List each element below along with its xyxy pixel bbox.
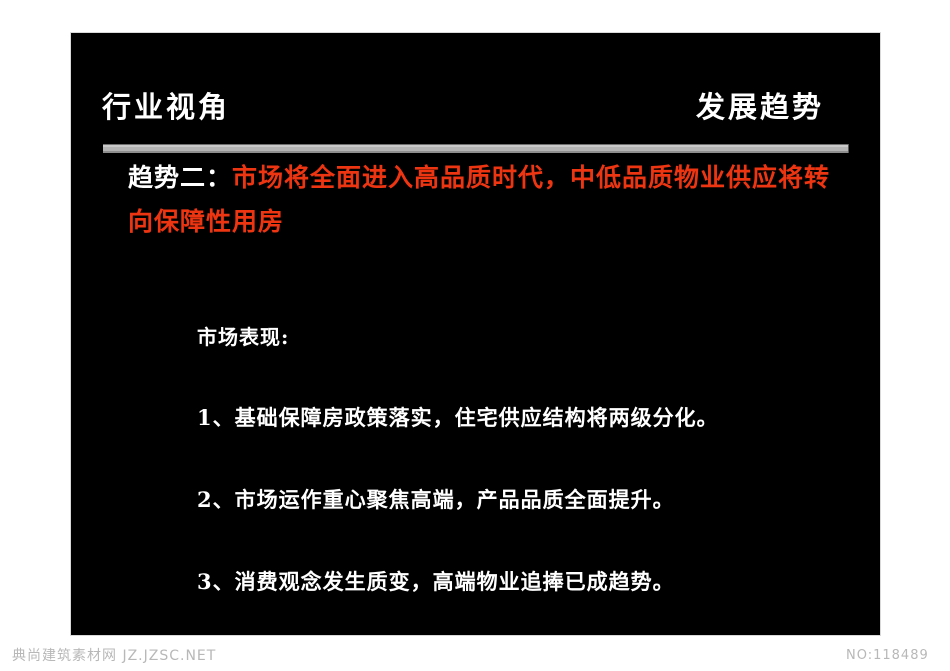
header-title-left: 行业视角 (102, 90, 230, 124)
watermark-site: 典尚建筑素材网 JZ.JZSC.NET (12, 645, 216, 665)
slide-header: 行业视角 发展趋势 (71, 33, 880, 128)
trend-statement: 市场将全面进入高品质时代，中低品质物业供应将转向保障性用房 (128, 163, 830, 236)
header-divider-rule (103, 144, 849, 153)
body-list-item: 1、基础保障房政策落实，住宅供应结构将两级分化。 (197, 402, 719, 432)
body-heading: 市场表现: (197, 321, 289, 350)
body-list-item: 2、市场运作重心聚焦高端，产品品质全面提升。 (197, 484, 675, 514)
page-canvas: 行业视角 发展趋势 趋势二：市场将全面进入高品质时代，中低品质物业供应将转向保障… (0, 0, 950, 671)
slide: 行业视角 发展趋势 趋势二：市场将全面进入高品质时代，中低品质物业供应将转向保障… (71, 33, 880, 635)
trend-label: 趋势二： (128, 163, 232, 192)
trend-title-block: 趋势二：市场将全面进入高品质时代，中低品质物业供应将转向保障性用房 (128, 156, 853, 244)
body-list-item: 3、消费观念发生质变，高端物业追捧已成趋势。 (197, 566, 675, 596)
header-title-right: 发展趋势 (696, 90, 824, 124)
watermark-document-number: NO:118489 (846, 648, 929, 663)
